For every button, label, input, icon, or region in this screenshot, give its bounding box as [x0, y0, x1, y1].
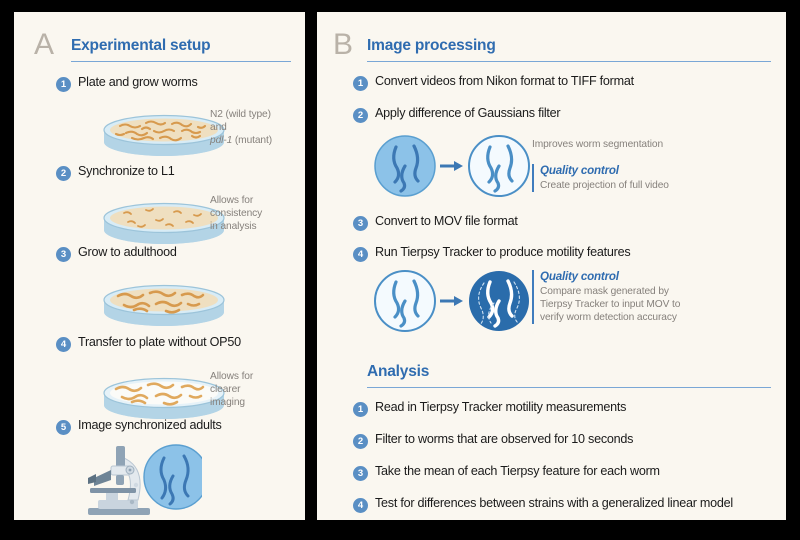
arrow-right-icon	[440, 296, 463, 306]
panel-a-title-block: Experimental setup	[71, 38, 291, 62]
panel-b-title-block: Image processing	[367, 38, 771, 62]
step-b-3[interactable]: 3 Convert to MOV file format	[353, 214, 518, 231]
step-b-4[interactable]: 4 Run Tierpsy Tracker to produce motilit…	[353, 245, 630, 262]
step-a-2-badge: 2	[56, 166, 71, 181]
step-analysis-1[interactable]: 1 Read in Tierpsy Tracker motility measu…	[353, 400, 626, 417]
quality-control-tierpsy: Quality control Compare mask generated b…	[532, 270, 780, 324]
note-sync-line3: in analysis	[210, 220, 305, 233]
step-analysis-3[interactable]: 3 Take the mean of each Tierpsy feature …	[353, 464, 660, 481]
step-a-2-label: Synchronize to L1	[78, 164, 175, 178]
step-a-5[interactable]: 5 Image synchronized adults	[56, 418, 222, 435]
note-strains-line3: pdl-1 (mutant)	[210, 134, 305, 147]
note-strains-line1: N2 (wild type)	[210, 108, 305, 121]
step-analysis-2-label: Filter to worms that are observed for 10…	[375, 432, 633, 446]
panel-b-letter: B	[333, 30, 354, 60]
note-strains-mutant: (mutant)	[232, 135, 272, 146]
step-b-2[interactable]: 2 Apply difference of Gaussians filter	[353, 106, 560, 123]
step-a-1-badge: 1	[56, 77, 71, 92]
panel-b-title: Image processing	[367, 38, 771, 54]
step-b-3-badge: 3	[353, 216, 368, 231]
qc-dog-body: Create projection of full video	[540, 179, 770, 192]
panel-b: B Image processing 1 Convert videos from…	[317, 12, 786, 520]
dog-transform-art	[372, 130, 532, 207]
petri-dish-adults	[98, 270, 230, 333]
qc-tierpsy-body-line3: verify worm detection accuracy	[540, 311, 780, 324]
step-analysis-3-badge: 3	[353, 466, 368, 481]
step-analysis-4[interactable]: 4 Test for differences between strains w…	[353, 496, 733, 513]
qc-tierpsy-body: Compare mask generated by Tierpsy Tracke…	[540, 285, 780, 324]
tierpsy-mask-art	[372, 265, 532, 342]
step-b-2-badge: 2	[353, 108, 368, 123]
note-sync-line1: Allows for	[210, 194, 305, 207]
step-a-3-badge: 3	[56, 247, 71, 262]
step-analysis-1-badge: 1	[353, 402, 368, 417]
analysis-title-rule	[367, 387, 771, 388]
step-a-3[interactable]: 3 Grow to adulthood	[56, 245, 177, 262]
qc-tierpsy-body-line2: Tierpsy Tracker to input MOV to	[540, 298, 780, 311]
note-strains-gene: pdl-1	[210, 135, 232, 146]
analysis-title-block: Analysis	[367, 364, 771, 388]
step-b-3-label: Convert to MOV file format	[375, 214, 518, 228]
step-a-5-badge: 5	[56, 420, 71, 435]
panel-b-title-rule	[367, 61, 771, 62]
qc-tierpsy-title: Quality control	[540, 270, 780, 284]
note-dog: Improves worm segmentation	[532, 138, 762, 151]
step-b-1[interactable]: 1 Convert videos from Nikon format to TI…	[353, 74, 634, 91]
note-strains: N2 (wild type) and pdl-1 (mutant)	[210, 108, 305, 147]
step-b-2-label: Apply difference of Gaussians filter	[375, 106, 560, 120]
figure-root: A Experimental setup 1 Plate and grow wo…	[0, 0, 800, 540]
step-a-4-badge: 4	[56, 337, 71, 352]
panel-a: A Experimental setup 1 Plate and grow wo…	[14, 12, 305, 520]
note-transfer: Allows for clearer imaging	[210, 370, 300, 409]
step-analysis-2-badge: 2	[353, 434, 368, 449]
step-a-1-label: Plate and grow worms	[78, 75, 198, 89]
step-a-1[interactable]: 1 Plate and grow worms	[56, 75, 198, 92]
step-b-4-label: Run Tierpsy Tracker to produce motility …	[375, 245, 630, 259]
step-analysis-2[interactable]: 2 Filter to worms that are observed for …	[353, 432, 633, 449]
note-strains-line2: and	[210, 121, 305, 134]
step-a-3-label: Grow to adulthood	[78, 245, 177, 259]
step-a-2[interactable]: 2 Synchronize to L1	[56, 164, 175, 181]
step-analysis-4-label: Test for differences between strains wit…	[375, 496, 733, 510]
note-transfer-line3: imaging	[210, 396, 300, 409]
step-a-4-label: Transfer to plate without OP50	[78, 335, 241, 349]
arrow-right-icon	[440, 161, 463, 171]
qc-dog-title: Quality control	[540, 164, 770, 178]
quality-control-dog: Quality control Create projection of ful…	[532, 164, 770, 192]
microscope-icon	[72, 440, 202, 520]
qc-tierpsy-body-line1: Compare mask generated by	[540, 285, 780, 298]
panel-a-title-rule	[71, 61, 291, 62]
step-analysis-4-badge: 4	[353, 498, 368, 513]
step-a-5-label: Image synchronized adults	[78, 418, 222, 432]
note-sync: Allows for consistency in analysis	[210, 194, 305, 233]
panel-a-title: Experimental setup	[71, 38, 291, 54]
analysis-title: Analysis	[367, 364, 771, 380]
step-b-1-label: Convert videos from Nikon format to TIFF…	[375, 74, 634, 88]
note-transfer-line1: Allows for	[210, 370, 300, 383]
step-b-1-badge: 1	[353, 76, 368, 91]
note-sync-line2: consistency	[210, 207, 305, 220]
panel-a-letter: A	[34, 30, 55, 60]
step-a-4[interactable]: 4 Transfer to plate without OP50	[56, 335, 241, 352]
step-b-4-badge: 4	[353, 247, 368, 262]
note-transfer-line2: clearer	[210, 383, 300, 396]
step-analysis-1-label: Read in Tierpsy Tracker motility measure…	[375, 400, 626, 414]
step-analysis-3-label: Take the mean of each Tierpsy feature fo…	[375, 464, 660, 478]
